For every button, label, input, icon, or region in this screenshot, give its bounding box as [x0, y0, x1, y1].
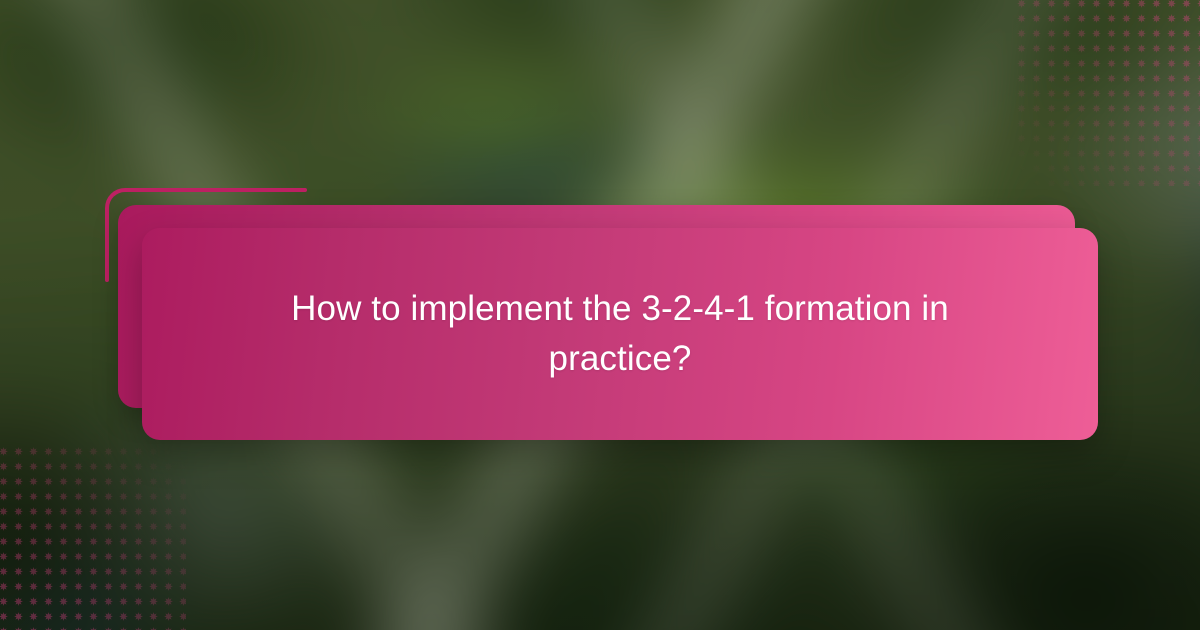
social-card: How to implement the 3-2-4-1 formation i… [0, 0, 1200, 630]
card-layer-front: How to implement the 3-2-4-1 formation i… [142, 228, 1098, 440]
page-title: How to implement the 3-2-4-1 formation i… [240, 284, 1000, 383]
